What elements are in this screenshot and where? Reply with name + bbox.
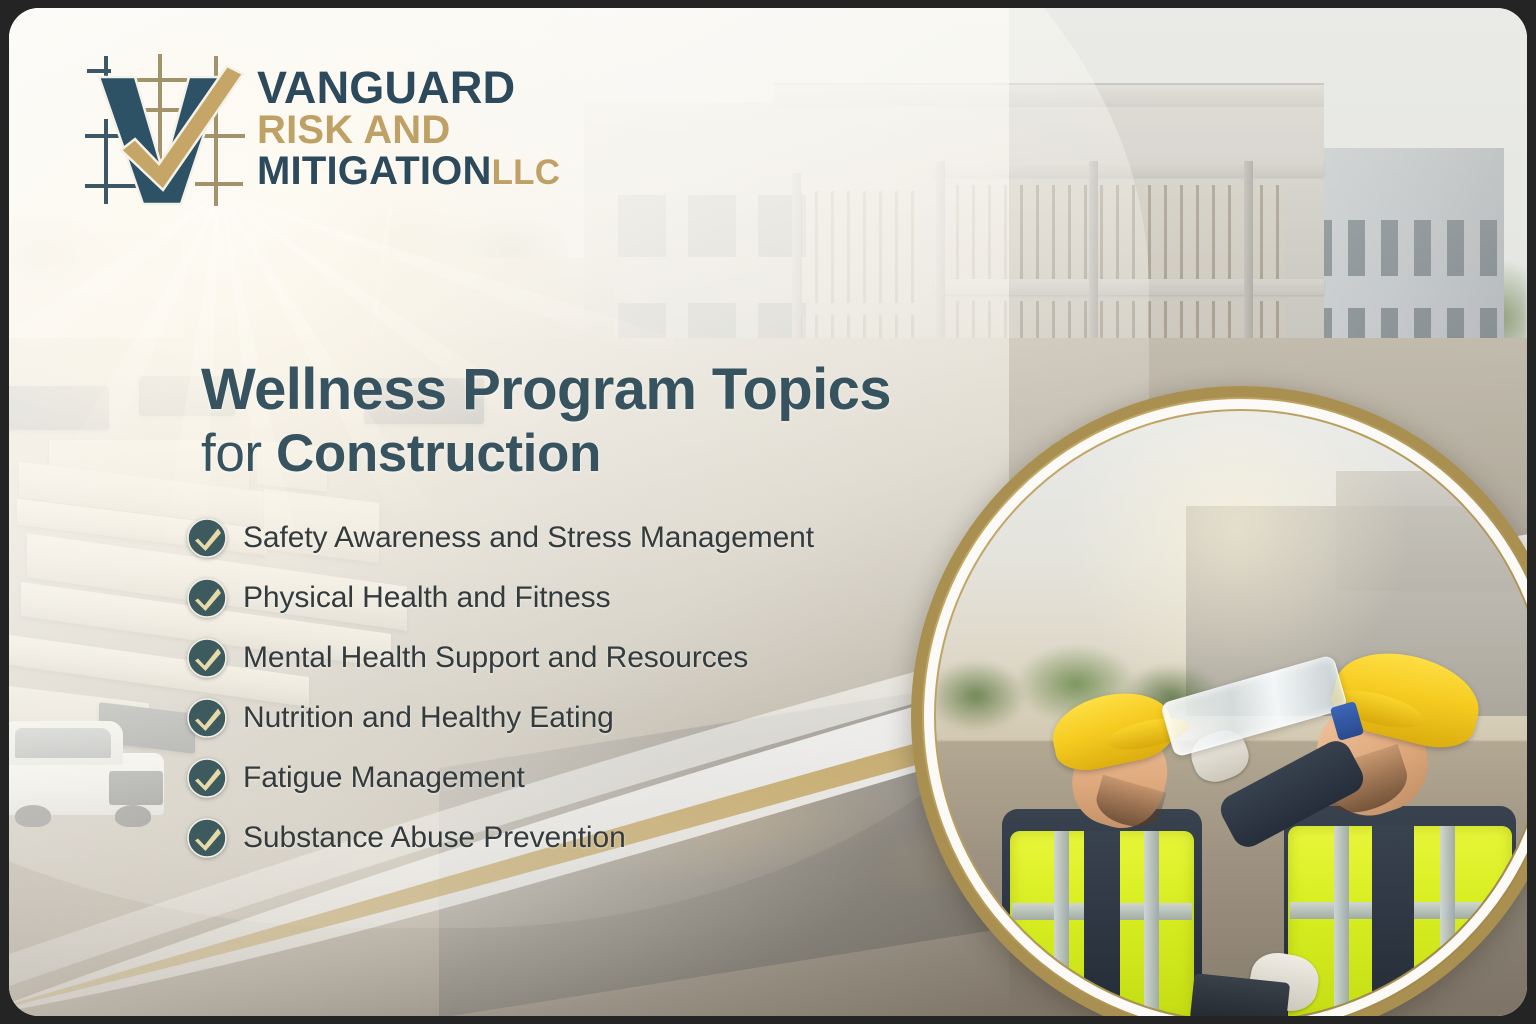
page-title: Wellness Program Topics for Construction [201, 360, 891, 481]
brand-logo[interactable]: VANGUARD RISK AND MITIGATIONLLC [77, 44, 560, 214]
worker-right [1226, 616, 1527, 1016]
list-item-label: Mental Health Support and Resources [243, 641, 748, 675]
circle-photo-frame [911, 386, 1527, 1016]
list-item-label: Substance Abuse Prevention [243, 821, 626, 855]
list-item-label: Fatigue Management [243, 761, 525, 795]
headline-line-1: Wellness Program Topics [201, 360, 891, 420]
list-item[interactable]: Physical Health and Fitness [187, 568, 977, 628]
brand-wordmark: VANGUARD RISK AND MITIGATIONLLC [257, 66, 560, 190]
brand-suffix-llc: LLC [492, 153, 561, 192]
check-circle-icon [187, 578, 227, 618]
list-item[interactable]: Nutrition and Healthy Eating [187, 688, 977, 748]
vanguard-logo-mark [77, 44, 249, 214]
list-item-label: Safety Awareness and Stress Management [243, 521, 814, 555]
check-circle-icon [187, 698, 227, 738]
check-circle-icon [187, 518, 227, 558]
check-circle-icon [187, 818, 227, 858]
brand-line-3-text: MITIGATION [257, 149, 492, 193]
list-item[interactable]: Mental Health Support and Resources [187, 628, 977, 688]
topic-list: Safety Awareness and Stress Management P… [187, 508, 977, 868]
check-circle-icon [187, 638, 227, 678]
headline-construction: Construction [276, 424, 601, 483]
outer-frame: VANGUARD RISK AND MITIGATIONLLC Wellness… [0, 0, 1536, 1024]
check-circle-icon [187, 758, 227, 798]
circle-photo [936, 411, 1527, 1016]
infographic-card: VANGUARD RISK AND MITIGATIONLLC Wellness… [9, 8, 1527, 1016]
list-item-label: Nutrition and Healthy Eating [243, 701, 614, 735]
list-item-label: Physical Health and Fitness [243, 581, 610, 615]
list-item[interactable]: Safety Awareness and Stress Management [187, 508, 977, 568]
brand-line-1: VANGUARD [257, 66, 560, 109]
headline-for: for [201, 424, 262, 483]
headline-line-2: for Construction [201, 426, 891, 481]
list-item[interactable]: Substance Abuse Prevention [187, 808, 977, 868]
list-item[interactable]: Fatigue Management [187, 748, 977, 808]
brand-line-2: RISK AND [257, 111, 560, 149]
brand-line-3: MITIGATIONLLC [257, 152, 560, 190]
